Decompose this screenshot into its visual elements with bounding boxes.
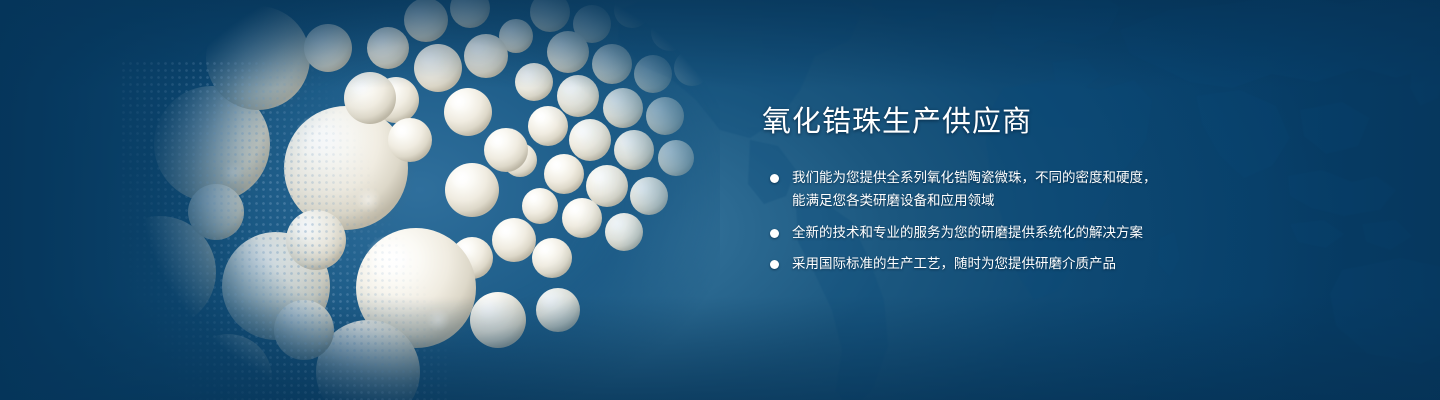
bullet-text: 全新的技术和专业的服务为您的研磨提供系统化的解决方案 [792,222,1232,245]
list-item: 采用国际标准的生产工艺，随时为您提供研磨介质产品 [762,253,1232,276]
bullet-dot-icon [770,229,779,238]
bullet-text-line1: 全新的技术和专业的服务为您的研磨提供系统化的解决方案 [792,225,1143,240]
bullet-text-line1: 采用国际标准的生产工艺，随时为您提供研磨介质产品 [792,256,1116,271]
banner-copy: 氧化锆珠生产供应商 我们能为您提供全系列氧化锆陶瓷微珠，不同的密度和硬度， 能满… [762,104,1232,276]
hero-banner: 氧化锆珠生产供应商 我们能为您提供全系列氧化锆陶瓷微珠，不同的密度和硬度， 能满… [0,0,1440,400]
bullet-text-line1: 我们能为您提供全系列氧化锆陶瓷微珠，不同的密度和硬度， [792,170,1157,185]
bullet-text-line2: 能满足您各类研磨设备和应用领域 [792,190,1232,213]
bullet-text: 我们能为您提供全系列氧化锆陶瓷微珠，不同的密度和硬度， 能满足您各类研磨设备和应… [792,167,1232,212]
bullet-text: 采用国际标准的生产工艺，随时为您提供研磨介质产品 [792,253,1232,276]
bullet-dot-icon [770,174,779,183]
list-item: 全新的技术和专业的服务为您的研磨提供系统化的解决方案 [762,222,1232,245]
bullet-dot-icon [770,260,779,269]
banner-headline: 氧化锆珠生产供应商 [762,104,1232,140]
list-item: 我们能为您提供全系列氧化锆陶瓷微珠，不同的密度和硬度， 能满足您各类研磨设备和应… [762,167,1232,212]
feature-bullet-list: 我们能为您提供全系列氧化锆陶瓷微珠，不同的密度和硬度， 能满足您各类研磨设备和应… [762,167,1232,276]
